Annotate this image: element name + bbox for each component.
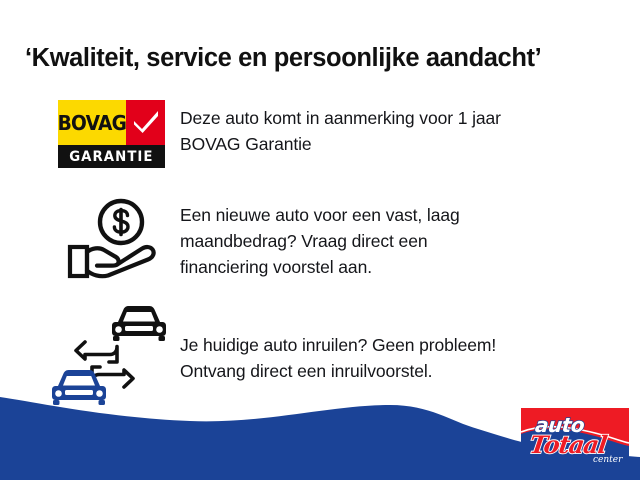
brand-logo-line3: center: [593, 455, 623, 465]
bovag-logo-top: BOVAG: [58, 100, 165, 145]
hand-holding-coin-icon: [66, 198, 162, 284]
bovag-wordmark: BOVAG: [58, 111, 127, 135]
bovag-logo-bottom-bar: GARANTIE: [58, 145, 165, 168]
feature-text-financiering: Een nieuwe auto voor een vast, laag maan…: [180, 202, 460, 280]
checkmark-icon: [133, 110, 159, 134]
bovag-garantie-text: GARANTIE: [69, 149, 153, 165]
brand-logo-auto-totaal-center: auto Totaal center: [521, 408, 629, 466]
promo-card: ‘Kwaliteit, service en persoonlijke aand…: [0, 0, 640, 480]
feature-row-financiering: Een nieuwe auto voor een vast, laag maan…: [0, 196, 640, 292]
car-black-icon: [112, 306, 166, 341]
feature-text-inruilen: Je huidige auto inruilen? Geen probleem!…: [180, 332, 496, 384]
feature-row-bovag-garantie: BOVAG GARANTIE Deze auto komt in aanmerk…: [0, 96, 640, 176]
page-title: ‘Kwaliteit, service en persoonlijke aand…: [25, 44, 541, 73]
bovag-logo-yellow-panel: BOVAG: [58, 100, 126, 145]
bovag-logo-red-panel: [126, 100, 165, 145]
feature-text-bovag-garantie: Deze auto komt in aanmerking voor 1 jaar…: [180, 105, 501, 157]
bovag-garantie-logo: BOVAG GARANTIE: [58, 100, 165, 168]
